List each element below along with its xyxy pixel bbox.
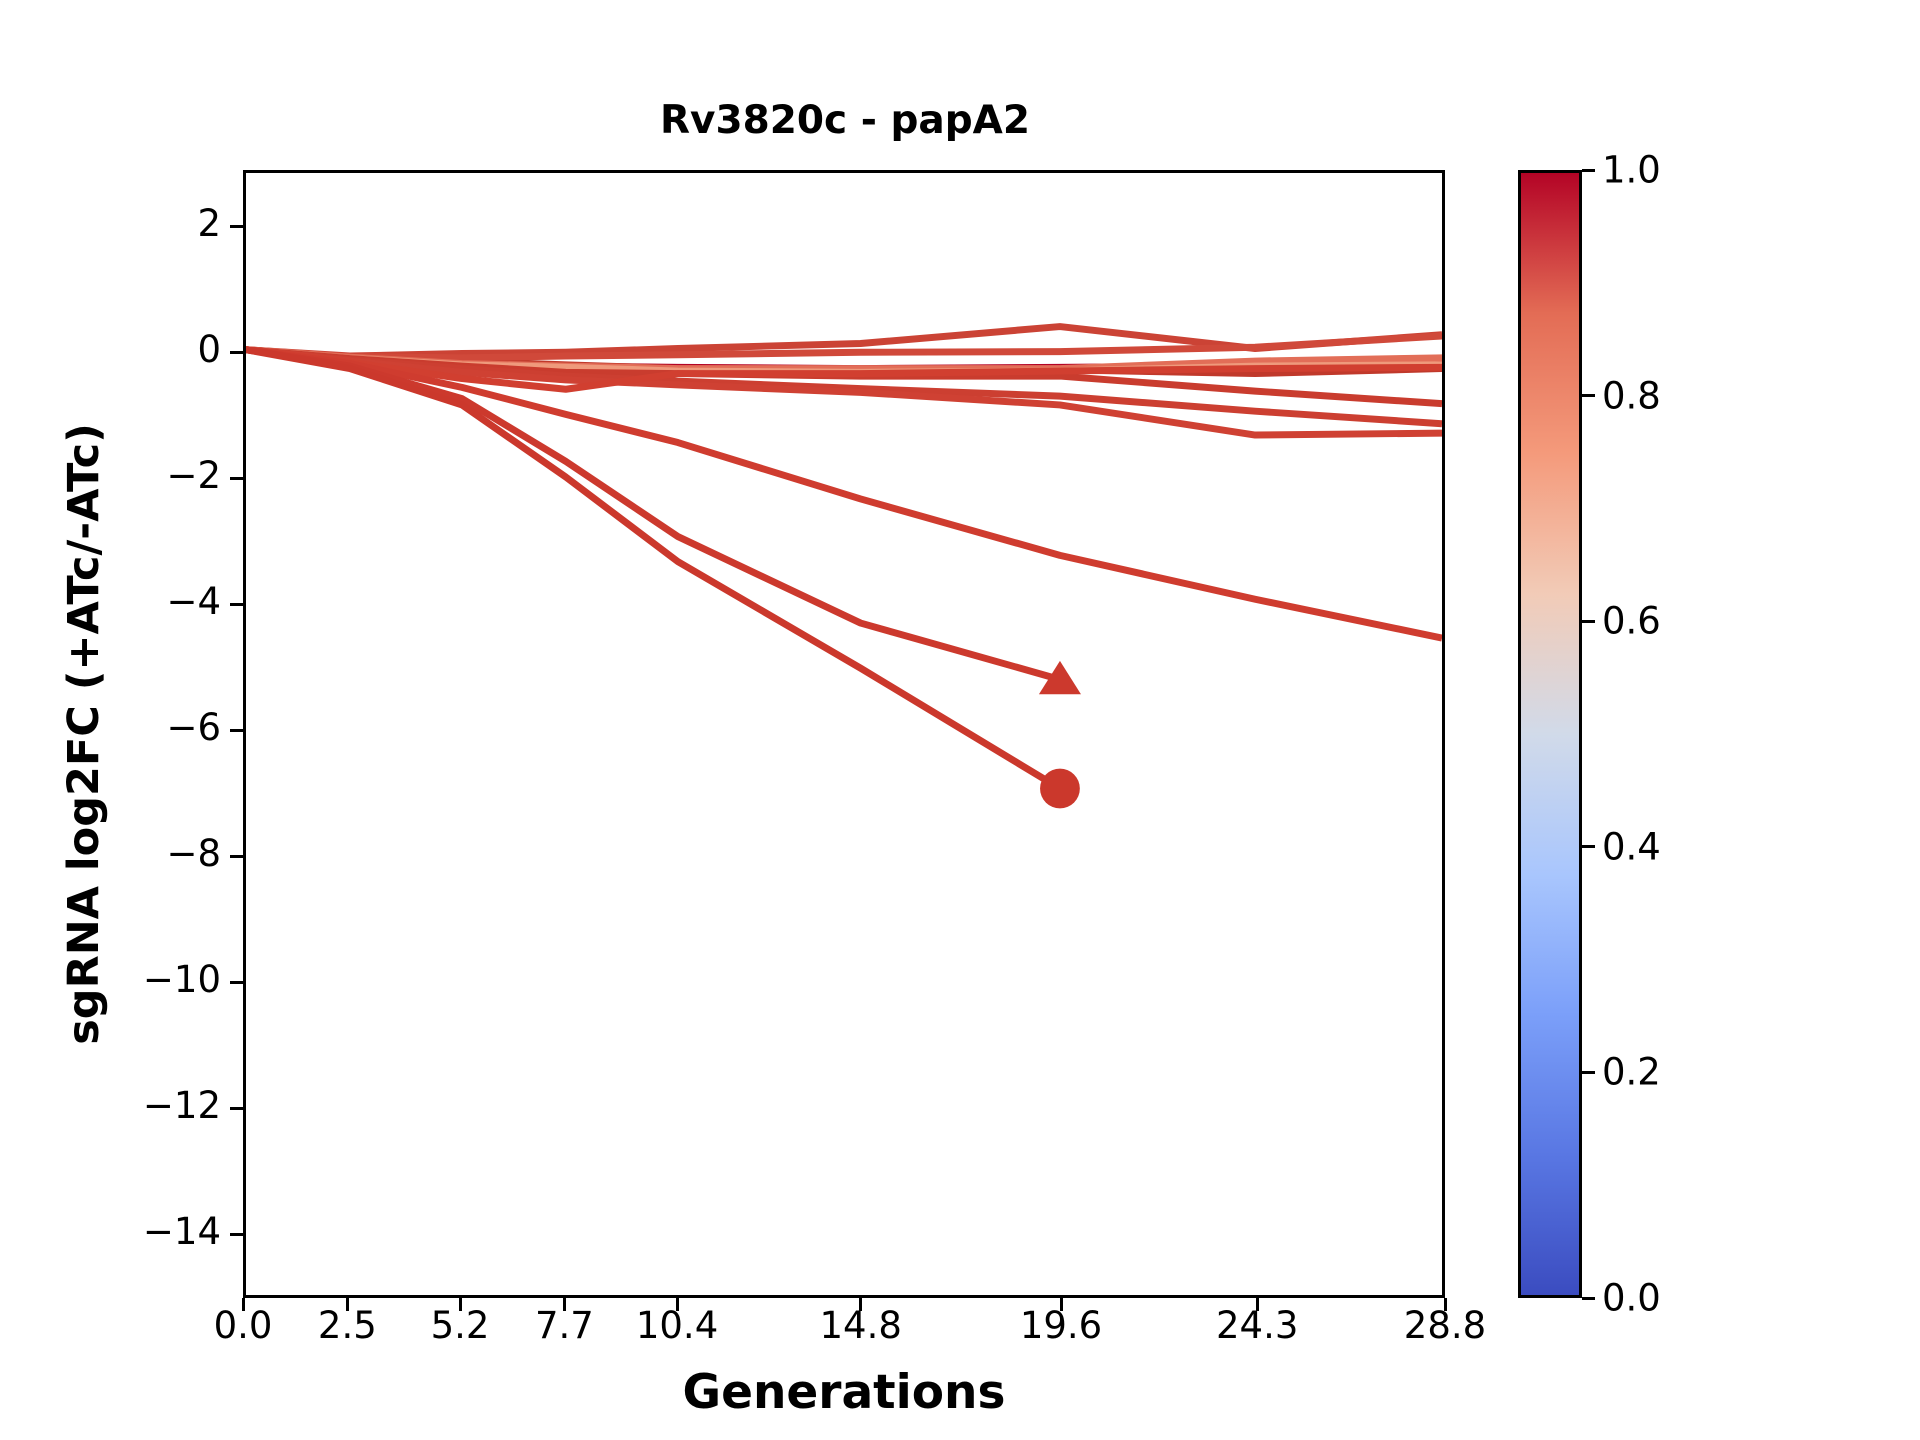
endpoint-circle-marker [1040, 769, 1080, 809]
figure-canvas: Rv3820c - papA2 sgRNA log2FC (+ATc/-ATc)… [0, 0, 1920, 1440]
y-tick-label: −10 [143, 958, 221, 1001]
y-tick-label: −2 [166, 454, 221, 497]
y-tick-label: 2 [197, 202, 221, 245]
colorbar-gradient [1518, 170, 1582, 1298]
y-axis-label: sgRNA log2FC (+ATc/-ATc) [56, 170, 112, 1298]
x-tick-label: 5.2 [431, 1304, 490, 1347]
y-tick-mark [230, 477, 243, 480]
y-tick-label: −4 [166, 580, 221, 623]
x-tick-label: 14.8 [819, 1304, 901, 1347]
colorbar-tick-mark [1582, 169, 1595, 172]
colorbar-tick-mark [1582, 394, 1595, 397]
y-tick-label: −14 [143, 1210, 221, 1253]
x-tick-label: 0.0 [214, 1304, 273, 1347]
x-tick-label: 10.4 [636, 1304, 718, 1347]
x-tick-label: 19.6 [1020, 1304, 1102, 1347]
colorbar-tick-label: 0.2 [1602, 1051, 1661, 1094]
y-tick-label: −12 [143, 1084, 221, 1127]
line-series-svg [246, 173, 1442, 1295]
line-series [246, 350, 1060, 789]
y-tick-label: −6 [166, 706, 221, 749]
x-tick-label: 24.3 [1216, 1304, 1298, 1347]
x-tick-label: 28.8 [1404, 1304, 1486, 1347]
page-title: Rv3820c - papA2 [240, 98, 1450, 143]
colorbar-tick-label: 0.8 [1602, 374, 1661, 417]
x-tick-label: 7.7 [535, 1304, 594, 1347]
colorbar-tick-label: 1.0 [1602, 149, 1661, 192]
colorbar-tick-label: 0.6 [1602, 600, 1661, 643]
y-tick-label: −8 [166, 832, 221, 875]
y-tick-label: 0 [197, 328, 221, 371]
y-tick-mark [230, 855, 243, 858]
y-tick-mark [230, 225, 243, 228]
y-tick-mark [230, 1107, 243, 1110]
y-tick-mark [230, 1233, 243, 1236]
colorbar-tick-mark [1582, 1071, 1595, 1074]
x-axis-label: Generations [243, 1365, 1445, 1420]
colorbar[interactable]: 0.00.20.40.60.81.0 [1518, 170, 1582, 1298]
colorbar-tick-label: 0.4 [1602, 825, 1661, 868]
y-tick-mark [230, 981, 243, 984]
plot-area[interactable] [243, 170, 1445, 1298]
x-tick-label: 2.5 [318, 1304, 377, 1347]
colorbar-tick-mark [1582, 1297, 1595, 1300]
y-tick-mark [230, 351, 243, 354]
colorbar-tick-label: 0.0 [1602, 1277, 1661, 1320]
y-tick-mark [230, 729, 243, 732]
colorbar-tick-mark [1582, 620, 1595, 623]
colorbar-tick-mark [1582, 845, 1595, 848]
y-tick-mark [230, 603, 243, 606]
